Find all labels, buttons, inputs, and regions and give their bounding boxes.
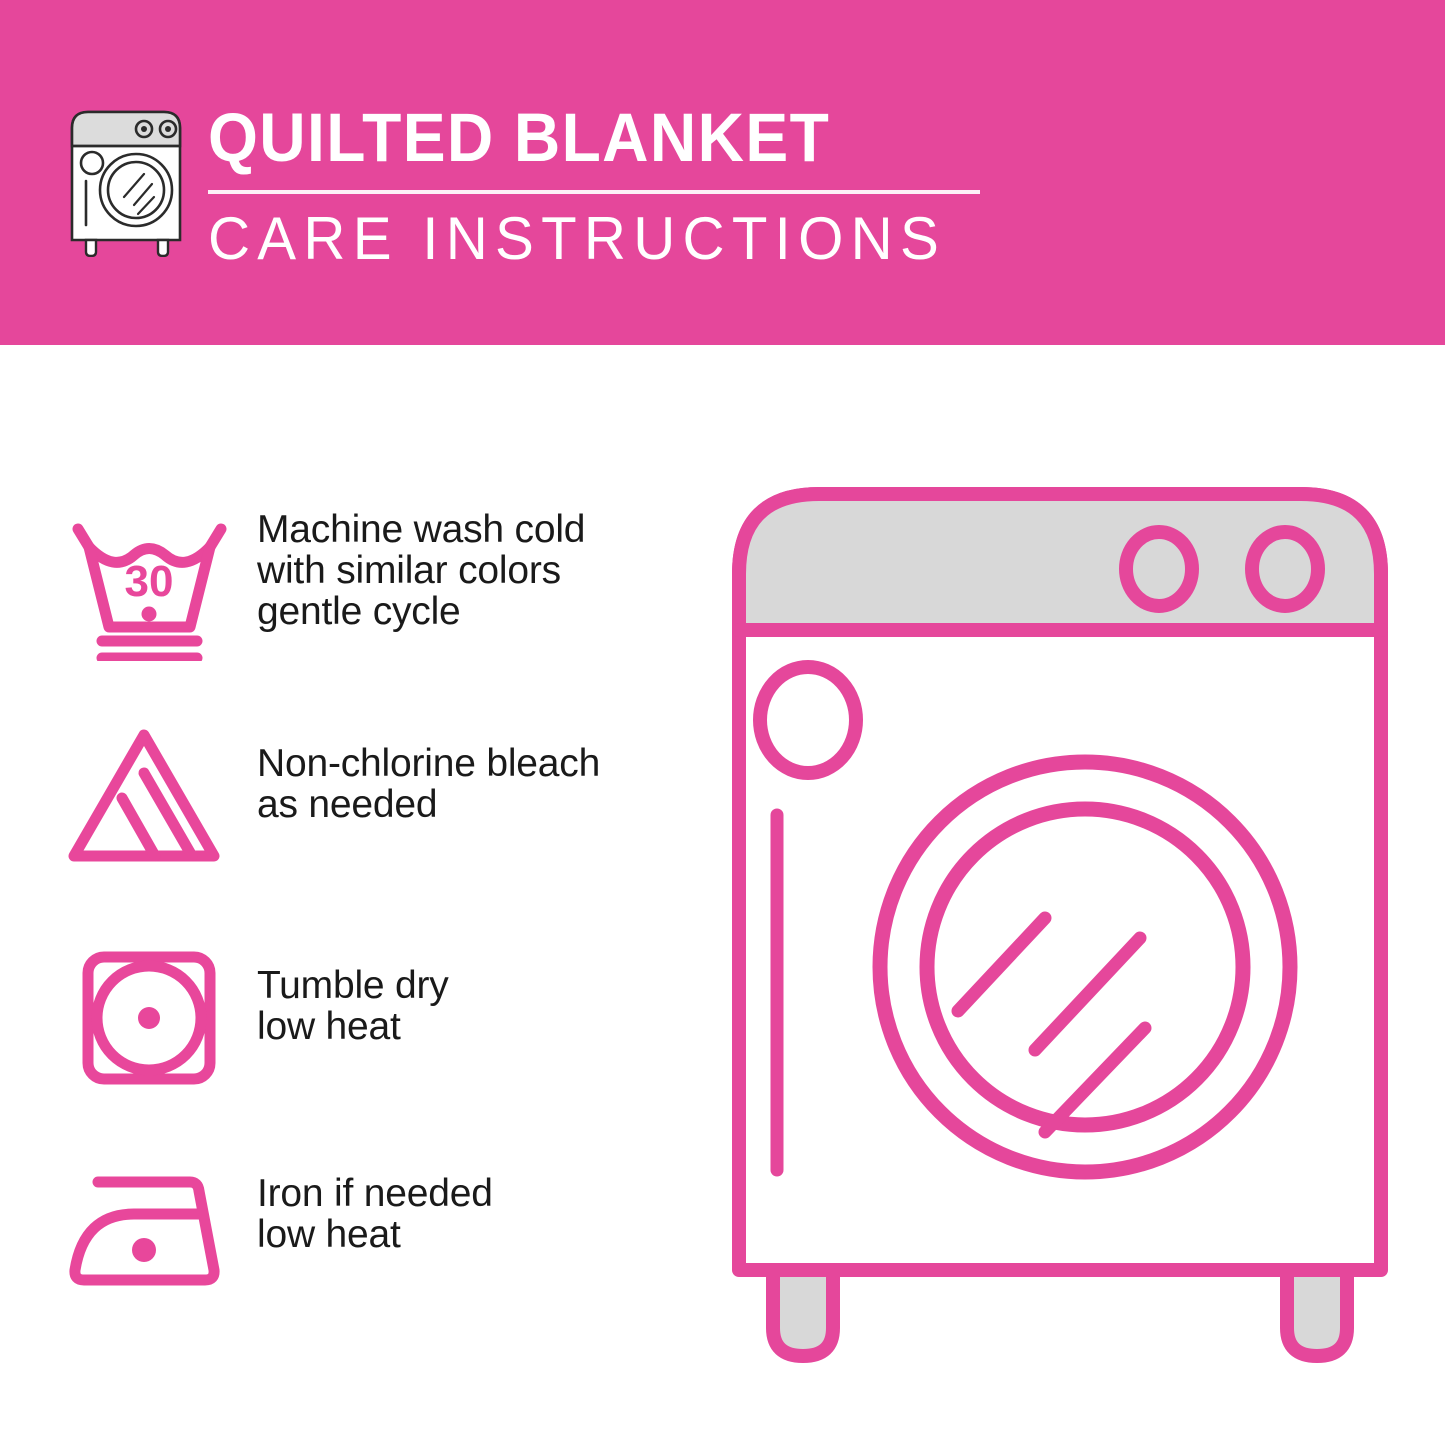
care-item-machine-wash: 30 Machine wash cold with similar colors…: [62, 503, 585, 668]
leg-right: [1287, 1270, 1347, 1356]
header-banner: QUILTED BLANKET CARE INSTRUCTIONS: [0, 0, 1445, 345]
non-chlorine-bleach-triangle-icon: [62, 715, 237, 880]
title-divider: [208, 190, 980, 194]
front-load-washing-machine-illustration: [715, 470, 1405, 1370]
care-item-bleach: Non-chlorine bleach as needed: [62, 715, 600, 880]
care-item-text: Machine wash cold with similar colors ge…: [257, 503, 585, 632]
care-instruction-list: 30 Machine wash cold with similar colors…: [0, 345, 700, 1445]
page-subtitle: CARE INSTRUCTIONS: [208, 204, 957, 274]
iron-low-heat-icon: [62, 1145, 237, 1310]
title-block: QUILTED BLANKET CARE INSTRUCTIONS: [208, 96, 980, 274]
care-item-iron: Iron if needed low heat: [62, 1145, 493, 1310]
door-inner-ring: [927, 809, 1243, 1125]
washing-machine-icon: [62, 102, 190, 257]
detergent-drawer-circle: [760, 667, 856, 773]
leg-left: [773, 1270, 833, 1356]
page-title: QUILTED BLANKET: [208, 98, 926, 178]
care-item-tumble-dry: Tumble dry low heat: [62, 935, 449, 1100]
tumble-dry-low-icon: [62, 935, 237, 1100]
knob-right: [1252, 532, 1318, 606]
care-item-text: Iron if needed low heat: [257, 1145, 493, 1255]
care-item-text: Tumble dry low heat: [257, 935, 449, 1047]
wash-tub-30-gentle-icon: 30: [62, 503, 237, 668]
knob-left: [1126, 532, 1192, 606]
care-item-text: Non-chlorine bleach as needed: [257, 715, 600, 825]
header-content: QUILTED BLANKET CARE INSTRUCTIONS: [62, 96, 980, 274]
wash-temperature-label: 30: [125, 557, 174, 606]
